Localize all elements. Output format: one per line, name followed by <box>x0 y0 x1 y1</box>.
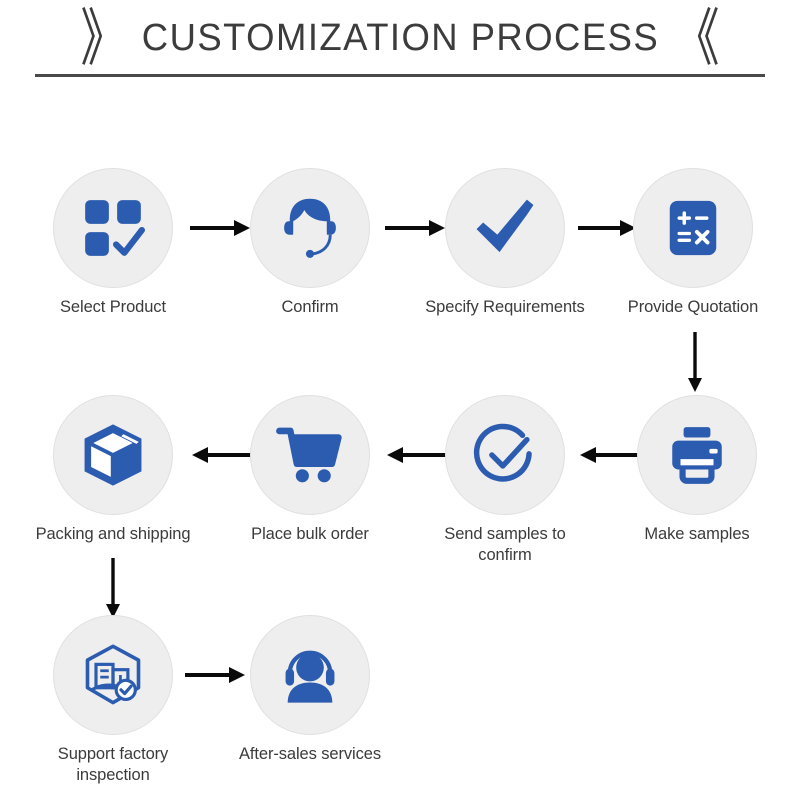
headset-agent-icon <box>274 192 346 264</box>
step-after-sales-services[interactable]: After-sales services <box>225 615 395 765</box>
grid-check-icon <box>80 195 146 261</box>
step-label: Provide Quotation <box>608 297 778 318</box>
step-label: Packing and shipping <box>28 524 198 545</box>
step-label: Place bulk order <box>225 524 395 545</box>
step-icon-circle <box>250 168 370 288</box>
left-chevron-icon: 》 <box>81 7 127 69</box>
step-icon-circle <box>53 615 173 735</box>
step-select-product[interactable]: Select Product <box>28 168 198 318</box>
arrow-packing-to-inspection <box>103 558 123 620</box>
step-support-factory-inspection[interactable]: Support factory inspection <box>28 615 198 786</box>
circle-check-icon <box>470 420 540 490</box>
step-label: Confirm <box>225 297 395 318</box>
printer-icon <box>664 422 730 488</box>
step-icon-circle <box>445 168 565 288</box>
step-label: Make samples <box>612 524 782 545</box>
step-provide-quotation[interactable]: Provide Quotation <box>608 168 778 318</box>
step-label: Select Product <box>28 297 198 318</box>
support-person-headphones-icon <box>276 641 344 709</box>
step-icon-circle <box>250 615 370 735</box>
title-row: 》 CUSTOMIZATION PROCESS 《 <box>0 8 800 68</box>
step-confirm[interactable]: Confirm <box>225 168 395 318</box>
step-icon-circle <box>250 395 370 515</box>
shopping-cart-icon <box>275 420 345 490</box>
step-label: Support factory inspection <box>28 744 198 786</box>
step-icon-circle <box>53 168 173 288</box>
step-icon-circle <box>53 395 173 515</box>
factory-inspection-shield-icon <box>79 641 147 709</box>
arrow-quotation-to-make-samples <box>685 332 705 394</box>
step-place-bulk-order[interactable]: Place bulk order <box>225 395 395 545</box>
check-mark-icon <box>470 193 540 263</box>
step-label: Specify Requirements <box>420 297 590 318</box>
step-icon-circle <box>633 168 753 288</box>
calculator-icon <box>662 197 724 259</box>
step-label: Send samples to confirm <box>420 524 590 566</box>
page-title: CUSTOMIZATION PROCESS <box>137 17 662 60</box>
step-specify-requirements[interactable]: Specify Requirements <box>420 168 590 318</box>
page-header: 》 CUSTOMIZATION PROCESS 《 <box>0 0 800 92</box>
step-packing-and-shipping[interactable]: Packing and shipping <box>28 395 198 545</box>
step-send-samples-to-confirm[interactable]: Send samples to confirm <box>420 395 590 566</box>
step-label: After-sales services <box>225 744 395 765</box>
step-icon-circle <box>445 395 565 515</box>
package-box-icon <box>78 420 148 490</box>
step-make-samples[interactable]: Make samples <box>612 395 782 545</box>
step-icon-circle <box>637 395 757 515</box>
right-chevron-icon: 《 <box>673 7 719 69</box>
title-divider <box>35 74 765 77</box>
